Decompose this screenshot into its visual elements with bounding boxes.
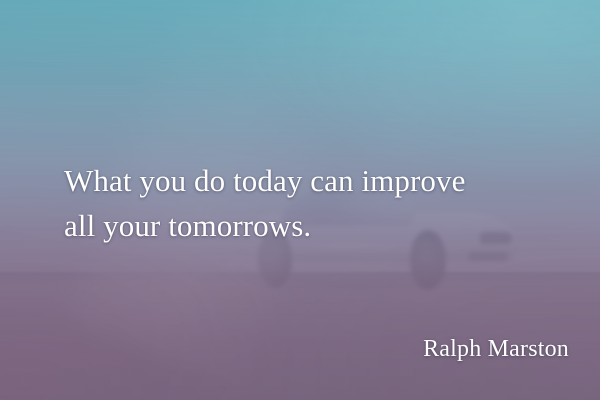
quote-card: What you do today can improve all your t… xyxy=(0,0,600,400)
quote-text: What you do today can improve all your t… xyxy=(64,158,550,248)
text-layer: What you do today can improve all your t… xyxy=(0,0,600,400)
quote-attribution: Ralph Marston xyxy=(423,333,569,365)
